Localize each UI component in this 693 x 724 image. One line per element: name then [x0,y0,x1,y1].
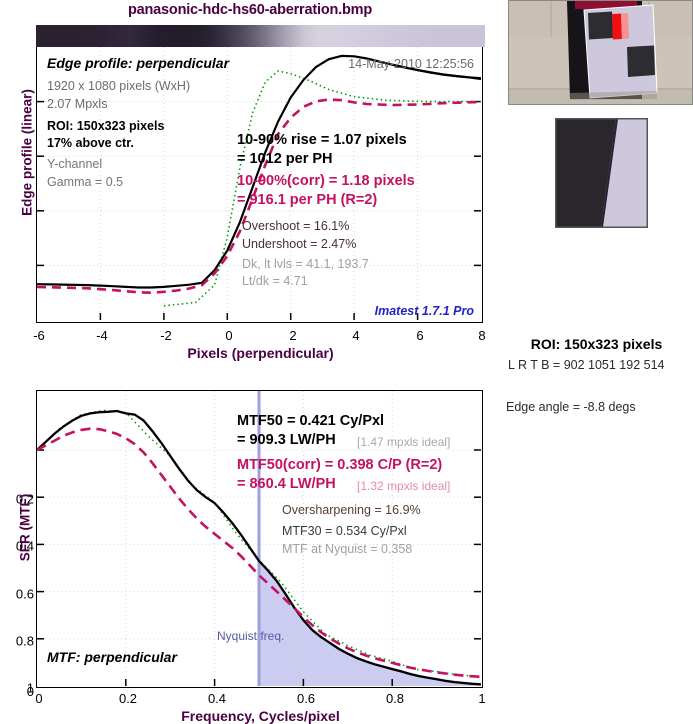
edge-xtick-6: 6 [416,328,423,343]
edge-xtick-7: 8 [478,328,485,343]
mtf50-ideal-note: [1.47 mpxls ideal] [357,435,450,449]
rise-corrected-line2: = 916.1 per PH (R=2) [237,192,377,208]
scene-thumbnail [508,0,693,105]
imatest-brand-label: Imatest 1.7.1 Pro [375,304,474,318]
mtf-at-nyquist-value: MTF at Nyquist = 0.358 [282,542,412,556]
edge-xtick-1: -4 [96,328,108,343]
light-dark-ratio: Lt/dk = 4.71 [242,274,308,288]
edge-grayscale-strip [36,25,485,47]
roi-caption: ROI: 150x323 pixels [500,336,693,352]
mtf50-corrected-line1: MTF50(corr) = 0.398 C/P (R=2) [237,457,442,473]
oversharpening-value: Oversharpening = 16.9% [282,503,421,517]
mtf-chart: MTF50 = 0.421 Cy/Pxl = 909.3 LW/PH [1.47… [36,390,485,688]
rise-measured-line1: 10-90% rise = 1.07 pixels [237,132,407,148]
mtf30-value: MTF30 = 0.534 Cy/Pxl [282,524,407,538]
edge-xtick-0: -6 [33,328,45,343]
mtf50-line2: = 909.3 LW/PH [237,432,336,448]
roi-coordinates: L R T B = 902 1051 192 514 [508,358,693,372]
edge-profile-timestamp: 14-May-2010 12:25:56 [348,57,474,71]
mtf-plot-area: MTF50 = 0.421 Cy/Pxl = 909.3 LW/PH [1.47… [36,390,483,688]
mtf50-line1: MTF50 = 0.421 Cy/Pxl [237,413,384,429]
image-dimensions: 1920 x 1080 pixels (WxH) [47,79,190,93]
nyquist-region-fill [259,559,481,686]
scene-thumbnail-svg [509,1,693,105]
mtf-y-axis-label: SFR (MTF) [18,443,33,613]
mtf-xtick-5: 1 [478,691,485,706]
mtf-xtick-0: 0 [35,691,42,706]
edge-profile-heading: Edge profile: perpendicular [47,55,229,71]
mtf-xtick-4: 0.8 [386,691,404,706]
edge-xtick-4: 2 [289,328,296,343]
undershoot-value: Undershoot = 2.47% [242,237,356,251]
rise-measured-line2: = 1012 per PH [237,151,333,167]
mtf-ytick-4: 0.8 [16,634,34,649]
mtf-heading: MTF: perpendicular [47,649,177,665]
mtf-x-axis-ticks: 0 0.2 0.4 0.6 0.8 1 [36,691,485,707]
edge-xtick-5: 4 [352,328,359,343]
edge-profile-chart: Edge profile: perpendicular 14-May-2010 … [36,25,485,325]
edge-xtick-2: -2 [160,328,172,343]
edge-xtick-3: 0 [225,328,232,343]
roi-crop-image [555,118,648,228]
nyquist-frequency-label: Nyquist freq. [217,629,284,643]
dark-light-levels: Dk, lt lvls = 41.1, 193.7 [242,257,369,271]
overshoot-value: Overshoot = 16.1% [242,219,349,233]
mtf50-corrected-line2: = 860.4 LW/PH [237,476,336,492]
mtf-xtick-1: 0.2 [119,691,137,706]
roi-crop-svg [556,119,647,227]
mtf-xtick-2: 0.4 [208,691,226,706]
image-megapixels: 2.07 Mpxls [47,97,107,111]
edge-channel: Y-channel [47,157,102,171]
right-panel: ROI: 150x323 pixels L R T B = 902 1051 1… [500,0,693,722]
mtf-ytick-0: 0 [27,684,34,699]
page-title: panasonic-hdc-hs60-aberration.bmp [0,2,500,18]
edge-x-axis-label: Pixels (perpendicular) [36,345,485,361]
mtf-xtick-3: 0.6 [297,691,315,706]
edge-y-axis-label: Edge profile (linear) [20,68,35,238]
edge-roi-size: ROI: 150x323 pixels [47,119,164,133]
edge-profile-plot-area: Edge profile: perpendicular 14-May-2010 … [36,47,483,323]
edge-roi-position: 17% above ctr. [47,136,134,150]
edge-angle-value: Edge angle = -8.8 degs [506,400,693,414]
edge-x-axis-ticks: -6 -4 -2 0 2 4 6 8 [36,328,485,344]
rise-corrected-line1: 10-90%(corr) = 1.18 pixels [237,173,415,189]
edge-gamma: Gamma = 0.5 [47,175,123,189]
mtf50-corrected-ideal-note: [1.32 mpxls ideal] [357,479,450,493]
